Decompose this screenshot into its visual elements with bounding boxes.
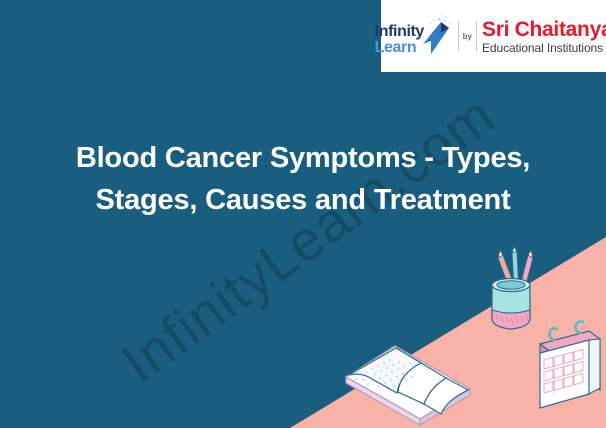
page-title: Blood Cancer Symptoms - Types, Stages, C… [0, 137, 606, 221]
logo-divider [458, 21, 459, 51]
sri-chaitanya-logo[interactable]: Sri Chaitanya Educational Institutions [482, 19, 606, 54]
logo-by-label: by [463, 32, 472, 41]
sri-chaitanya-subtitle: Educational Institutions [482, 42, 606, 54]
poster-canvas: InfinityLearn.com Blood Cancer Symptoms … [0, 0, 606, 428]
logo-by-separator: by [458, 21, 477, 51]
infinity-learn-word-learn: Learn [375, 40, 417, 56]
infinity-learn-swoosh-icon [415, 14, 455, 58]
logo-divider [476, 21, 477, 51]
brand-logo-box[interactable]: Infinity Learn by Sri Chaitanya Educatio… [381, 0, 606, 72]
sri-chaitanya-name: Sri Chaitanya [482, 19, 606, 40]
infinity-learn-logo[interactable]: Infinity Learn [375, 10, 453, 62]
